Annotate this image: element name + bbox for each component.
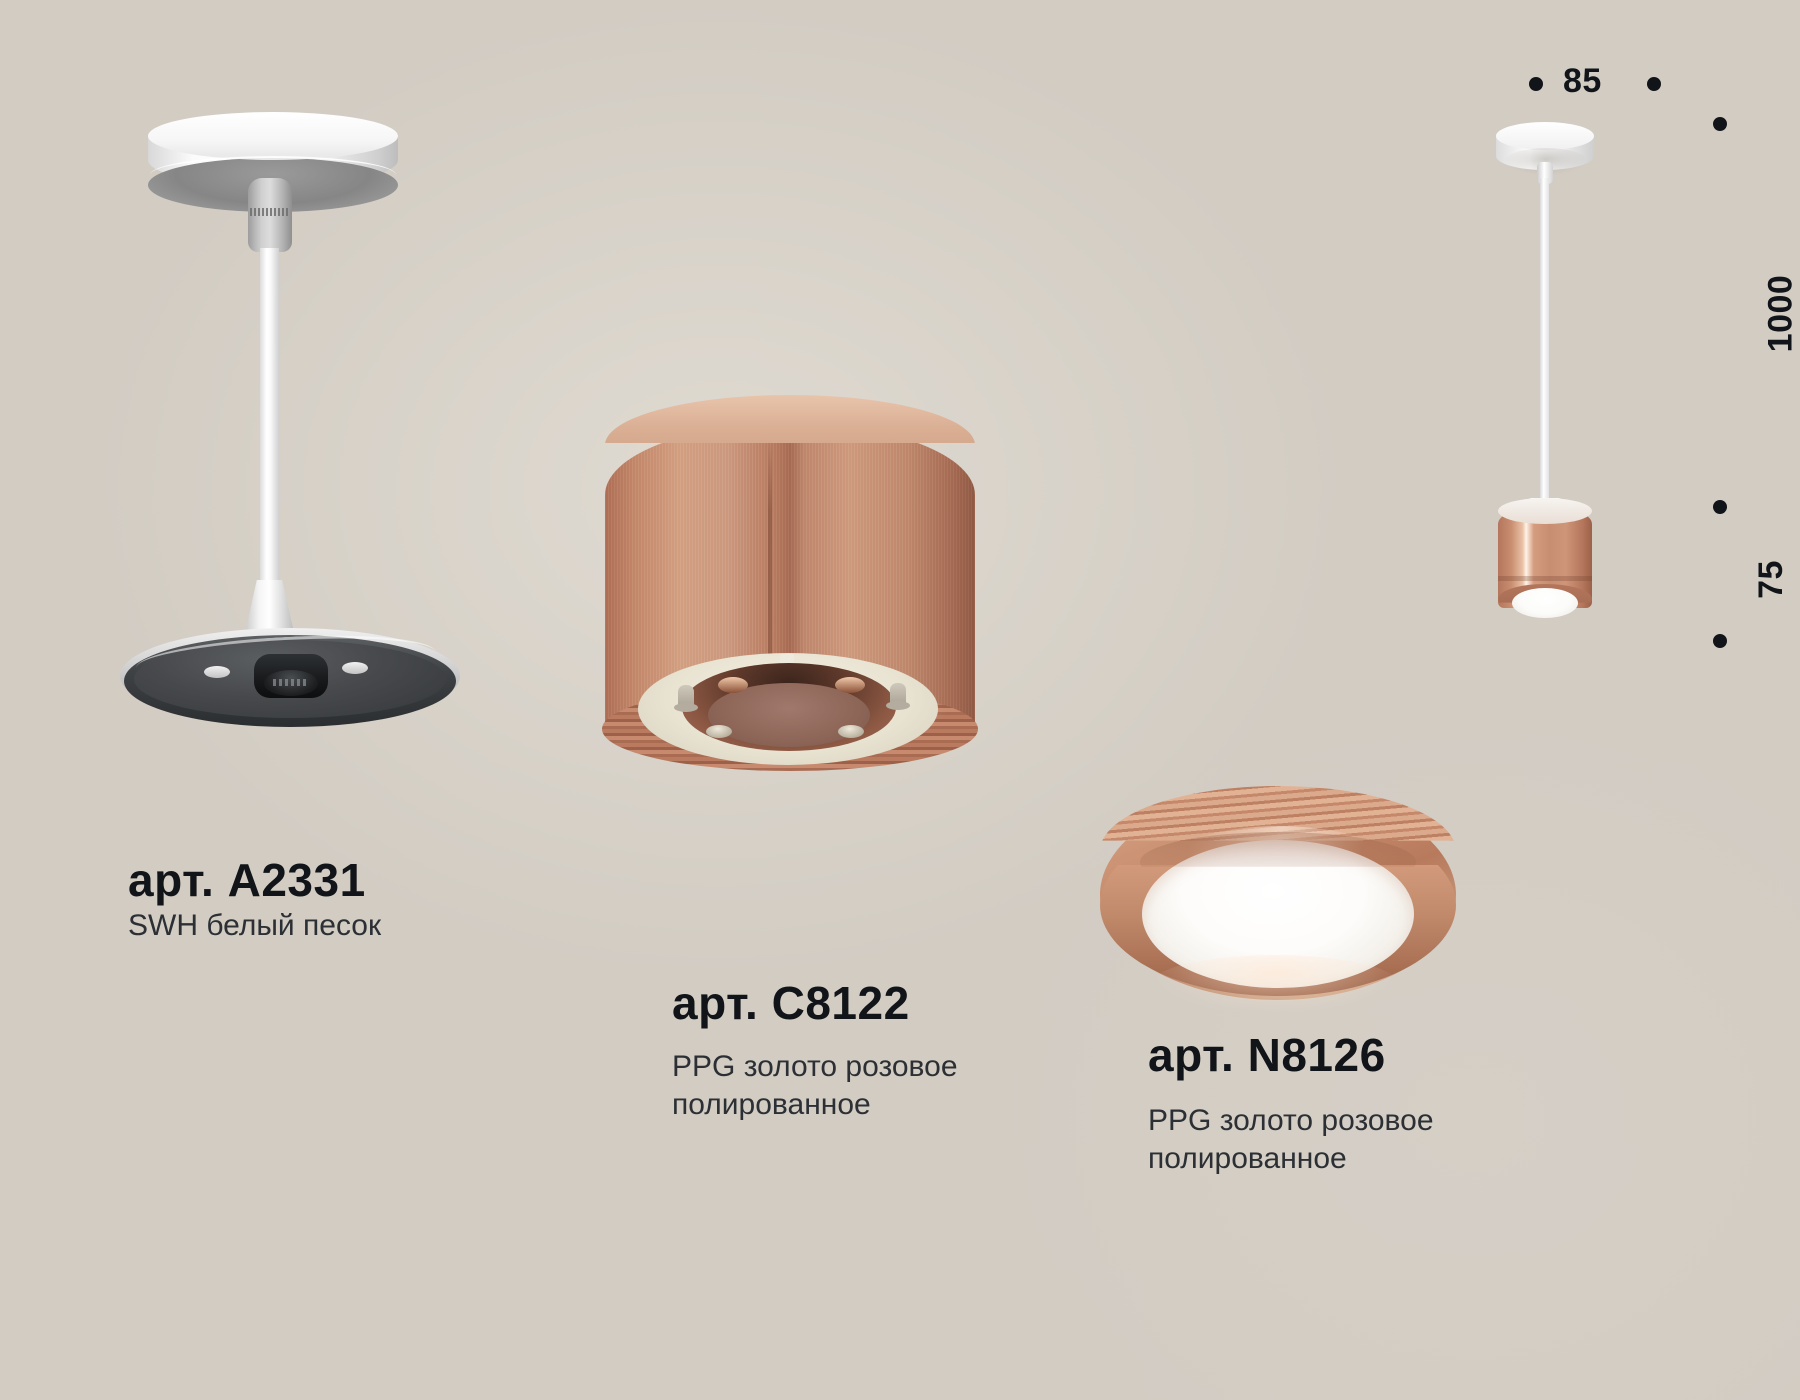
- dim-dot-drop-bottom: [1713, 500, 1727, 514]
- mount-post-left: [678, 685, 694, 709]
- label-n8126: арт. N8126 PPG золото розовое полированн…: [1148, 1030, 1434, 1178]
- art-prefix-n8126: арт.: [1148, 1029, 1234, 1081]
- mount-screw-left: [706, 725, 732, 738]
- dim-dot-height-bottom: [1713, 634, 1727, 648]
- dim-value-width: 85: [1563, 62, 1602, 101]
- art-line-a2331: арт. A2331: [128, 855, 381, 907]
- bore-clip-right: [835, 677, 865, 693]
- label-a2331: арт. A2331 SWH белый песок: [128, 855, 381, 945]
- desc-a2331-line1: SWH белый песок: [128, 907, 381, 945]
- plate-screw-right: [342, 662, 368, 674]
- art-line-c8122: арт. C8122: [672, 978, 958, 1030]
- dim-value-height: 75: [1752, 560, 1791, 599]
- art-code-a2331: A2331: [228, 854, 366, 906]
- ring-bottom-glow: [1150, 955, 1400, 1015]
- art-line-n8126: арт. N8126: [1148, 1030, 1434, 1082]
- desc-c8122-line2: полированное: [672, 1086, 958, 1124]
- mount-post-right: [890, 683, 906, 707]
- mount-face-notch: [780, 654, 794, 663]
- plate-hub-core: [264, 670, 318, 696]
- desc-n8126-line2: полированное: [1148, 1140, 1434, 1178]
- desc-c8122-line1: PPG золото розовое: [672, 1048, 958, 1086]
- mini-lamp-body-groove: [1498, 576, 1592, 581]
- product-c8122-illustration: [590, 395, 990, 795]
- dim-dot-width-right: [1647, 77, 1661, 91]
- art-code-c8122: C8122: [772, 977, 910, 1029]
- product-diagram-canvas: арт. A2331 SWH белый песок арт. C8122 PP…: [0, 0, 1800, 1400]
- strain-relief-grip: [248, 178, 292, 252]
- bore-clip-left: [718, 677, 748, 693]
- suspension-cable: [260, 248, 279, 598]
- art-code-n8126: N8126: [1248, 1029, 1386, 1081]
- mini-diffuser-disc: [1512, 588, 1578, 618]
- plate-screw-left: [204, 666, 230, 678]
- canopy-top-face: [148, 112, 398, 160]
- product-n8126-illustration: [1090, 780, 1490, 1040]
- mount-screw-right: [838, 725, 864, 738]
- mini-lamp-body-top: [1498, 498, 1592, 524]
- dim-dot-drop-top: [1713, 117, 1727, 131]
- desc-n8126-line1: PPG золото розовое: [1148, 1102, 1434, 1140]
- mounting-plate: [120, 628, 460, 738]
- dim-dot-width-left: [1529, 77, 1543, 91]
- product-a2331-illustration: [120, 100, 480, 680]
- dim-value-drop: 1000: [1761, 275, 1800, 353]
- mini-canopy-top: [1496, 122, 1594, 150]
- assembled-pendant-illustration: [1470, 120, 1720, 660]
- label-c8122: арт. C8122 PPG золото розовое полированн…: [672, 978, 958, 1124]
- art-prefix-a2331: арт.: [128, 854, 214, 906]
- art-prefix-c8122: арт.: [672, 977, 758, 1029]
- mini-suspension-cable: [1540, 178, 1549, 508]
